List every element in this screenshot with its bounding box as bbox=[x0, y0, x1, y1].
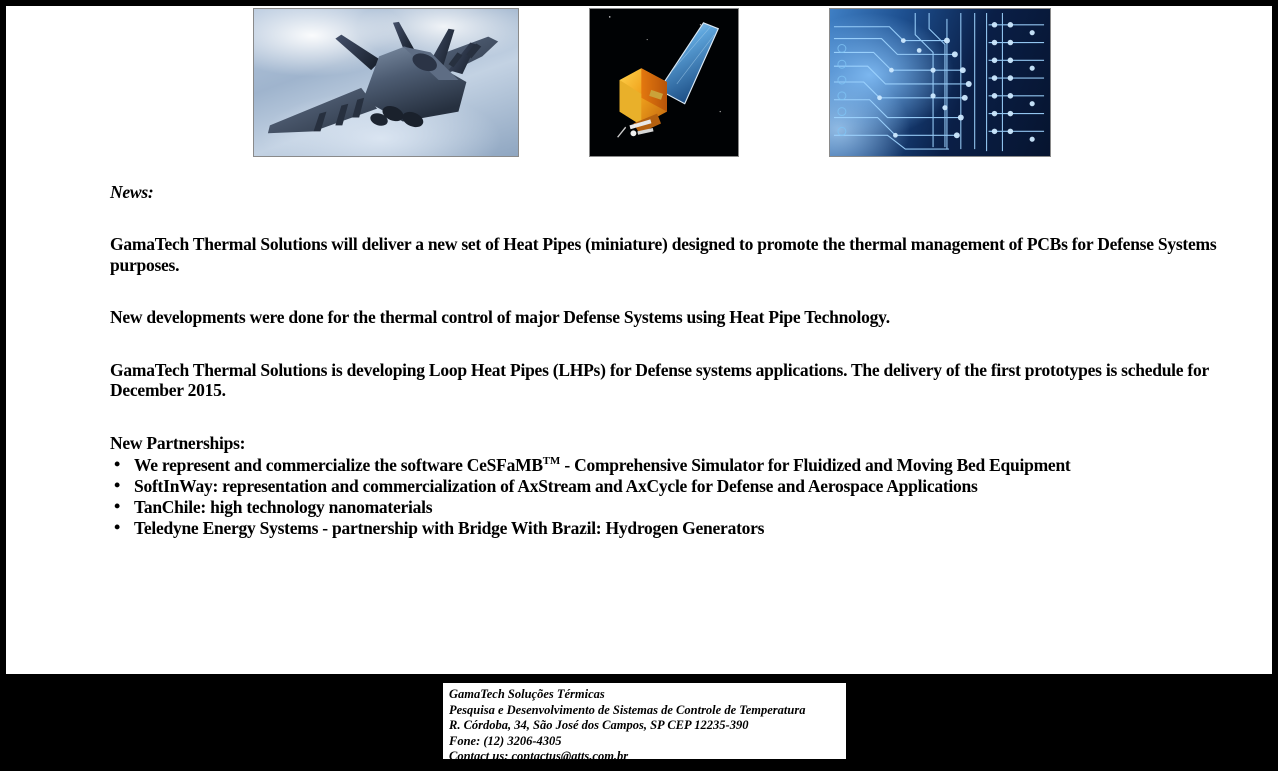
bullet-icon: • bbox=[114, 517, 120, 538]
list-item: •Teledyne Energy Systems - partnership w… bbox=[110, 518, 1220, 538]
footer-phone: Fone: (12) 3206-4305 bbox=[449, 734, 846, 750]
page-frame: News: GamaTech Thermal Solutions will de… bbox=[0, 0, 1278, 771]
bullet-icon: • bbox=[114, 475, 120, 496]
partnerships-label: New Partnerships: bbox=[110, 433, 1220, 453]
satellite-photo bbox=[589, 8, 739, 157]
list-item: •SoftInWay: representation and commercia… bbox=[110, 476, 1220, 496]
satellite-illustration bbox=[590, 9, 738, 156]
partnerships-list: •We represent and commercialize the soft… bbox=[110, 455, 1220, 538]
list-item: •TanChile: high technology nanomaterials bbox=[110, 497, 1220, 517]
bullet-icon: • bbox=[114, 454, 120, 475]
fighter-jet-illustration bbox=[254, 9, 518, 156]
news-paragraph-3: GamaTech Thermal Solutions is developing… bbox=[110, 360, 1220, 401]
footer-contact-email: Contact us: contactus@gtts.com.br bbox=[449, 749, 846, 765]
partnership-text-cont: - Comprehensive Simulator for Fluidized … bbox=[560, 455, 1070, 475]
circuit-board-photo bbox=[829, 8, 1051, 157]
partnership-text: We represent and commercialize the softw… bbox=[134, 455, 543, 475]
banner-image-row bbox=[6, 6, 1272, 160]
bullet-icon: • bbox=[114, 496, 120, 517]
news-heading: News: bbox=[110, 182, 1220, 202]
partnership-text: TanChile: high technology nanomaterials bbox=[134, 497, 432, 517]
list-item: •We represent and commercialize the soft… bbox=[110, 455, 1220, 475]
news-paragraph-1: GamaTech Thermal Solutions will deliver … bbox=[110, 234, 1220, 275]
partnership-text: Teledyne Energy Systems - partnership wi… bbox=[134, 518, 764, 538]
fighter-jet-photo bbox=[253, 8, 519, 157]
partnership-text: SoftInWay: representation and commercial… bbox=[134, 476, 978, 496]
content-sheet: News: GamaTech Thermal Solutions will de… bbox=[6, 6, 1272, 674]
footer-company-name: GamaTech Soluções Térmicas bbox=[449, 687, 846, 703]
news-body: News: GamaTech Thermal Solutions will de… bbox=[110, 182, 1220, 539]
footer-contact-box: GamaTech Soluções Térmicas Pesquisa e De… bbox=[442, 682, 847, 760]
circuit-board-illustration bbox=[830, 9, 1050, 156]
trademark-superscript: TM bbox=[543, 455, 560, 467]
news-paragraph-2: New developments were done for the therm… bbox=[110, 307, 1220, 327]
footer-address: R. Córdoba, 34, São José dos Campos, SP … bbox=[449, 718, 846, 734]
footer-tagline: Pesquisa e Desenvolvimento de Sistemas d… bbox=[449, 703, 846, 719]
